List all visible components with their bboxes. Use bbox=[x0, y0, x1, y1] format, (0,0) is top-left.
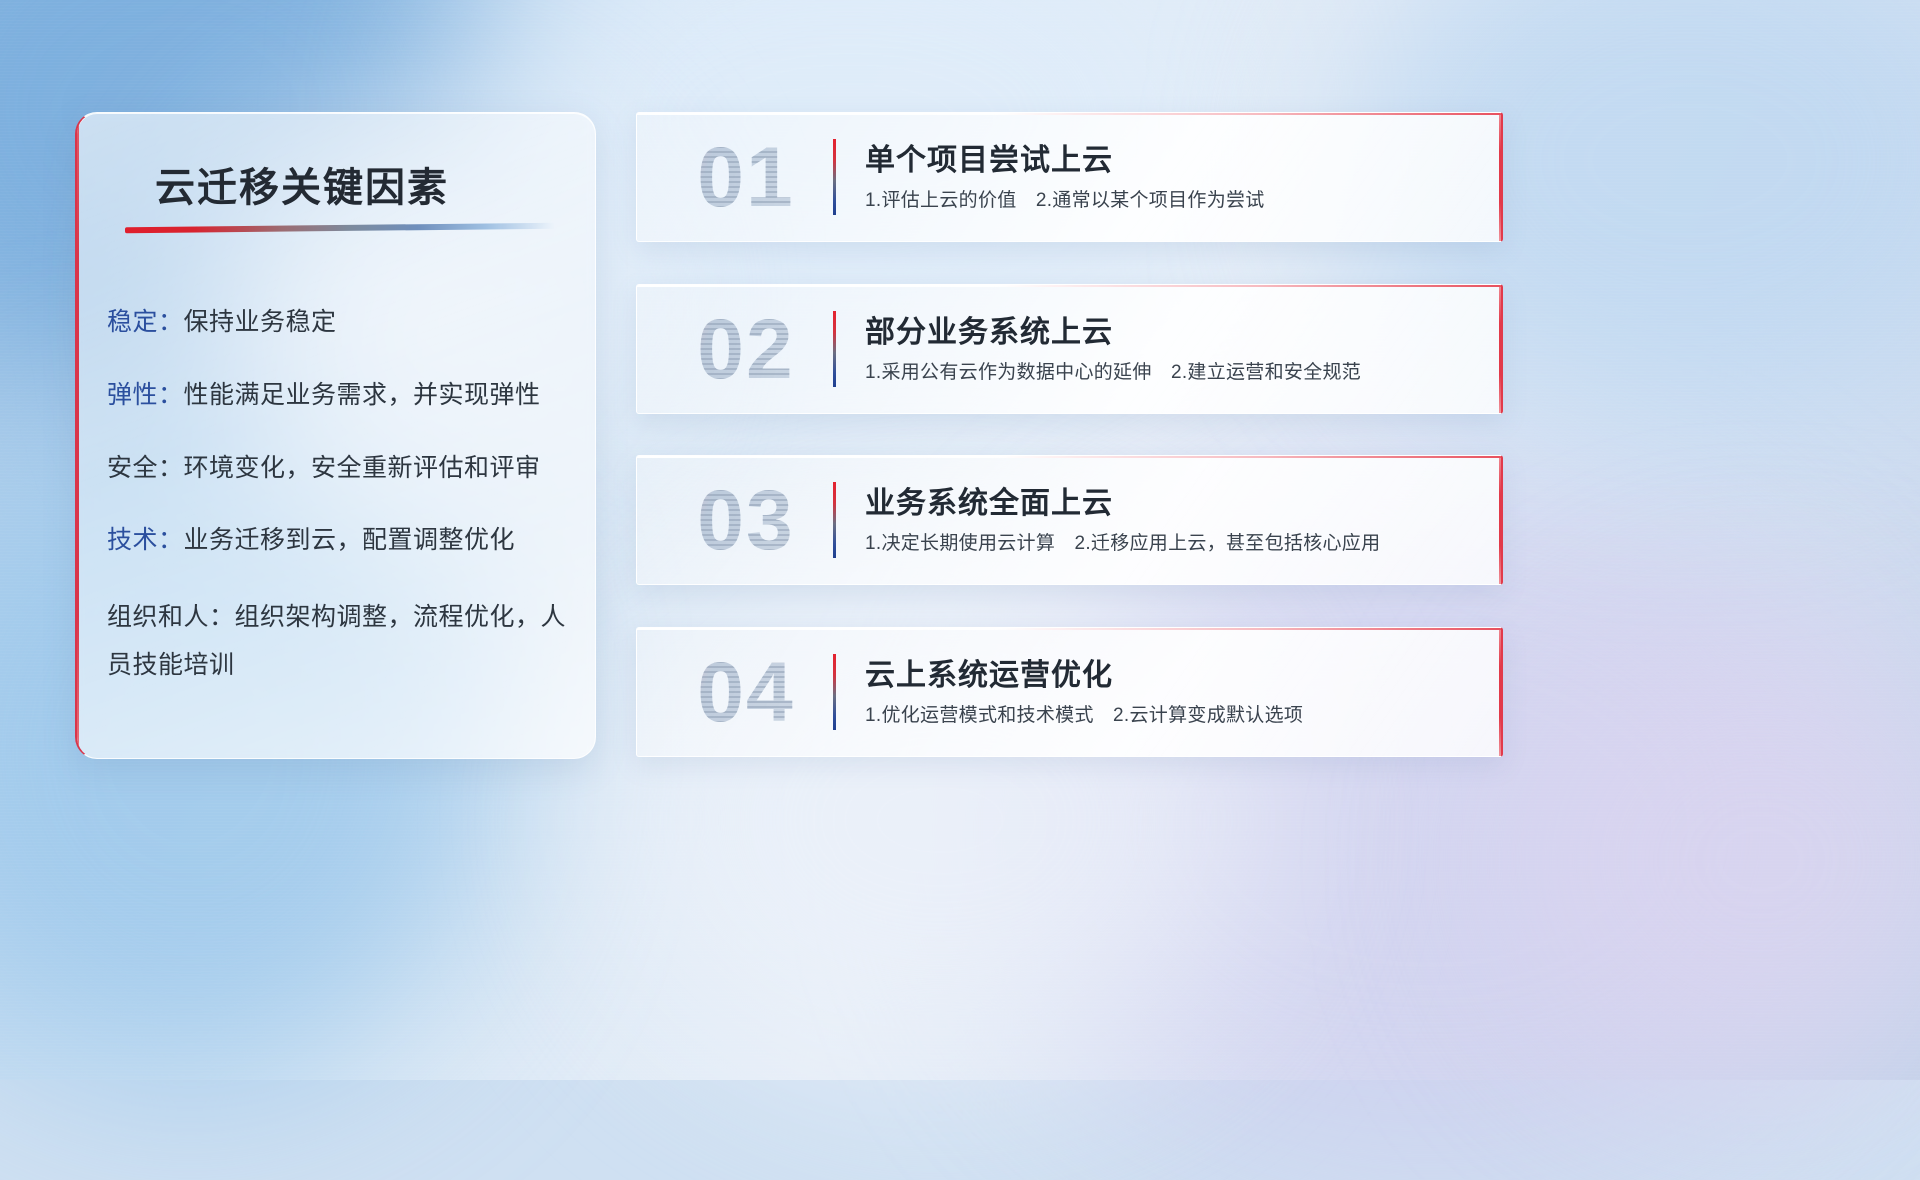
stage-number: 04 bbox=[661, 636, 831, 748]
list-item: 技术：业务迁移到云，配置调整优化 bbox=[107, 521, 571, 560]
stage-description: 1.决定长期使用云计算 2.迁移应用上云，甚至包括核心应用 bbox=[865, 528, 1380, 555]
list-item-label: 组织和人： bbox=[107, 603, 235, 631]
stage-number: 02 bbox=[661, 293, 831, 405]
stage-accent-bar bbox=[833, 654, 836, 730]
stage-accent-bar bbox=[833, 482, 836, 558]
list-item: 弹性：性能满足业务需求，并实现弹性 bbox=[107, 376, 571, 415]
stage-description: 1.评估上云的价值 2.通常以某个项目作为尝试 bbox=[865, 185, 1265, 212]
page-title: 云迁移关键因素 bbox=[155, 155, 555, 213]
list-item-label: 技术： bbox=[107, 526, 184, 554]
key-factors-panel: 云迁移关键因素 稳定：保持业务稳定 弹性：性能满足业务需求，并实现弹性 安全：环… bbox=[75, 112, 596, 759]
stage-title: 云上系统运营优化 bbox=[865, 650, 1113, 694]
title-underline-gradient bbox=[125, 223, 555, 234]
slide-stage: 云迁移关键因素 稳定：保持业务稳定 弹性：性能满足业务需求，并实现弹性 安全：环… bbox=[0, 0, 1920, 1080]
stage-accent-bar bbox=[833, 311, 836, 387]
list-item-label: 安全： bbox=[107, 454, 184, 482]
list-item: 组织和人：组织架构调整，流程优化，人员技能培训 bbox=[107, 594, 571, 689]
stage-card-02[interactable]: 02 部分业务系统上云 1.采用公有云作为数据中心的延伸 2.建立运营和安全规范 bbox=[636, 284, 1503, 414]
list-item: 稳定：保持业务稳定 bbox=[107, 303, 571, 342]
stage-accent-bar bbox=[833, 139, 836, 215]
list-item-text: 环境变化，安全重新评估和评审 bbox=[184, 454, 541, 482]
list-item: 安全：环境变化，安全重新评估和评审 bbox=[107, 449, 571, 488]
list-item-text: 业务迁移到云，配置调整优化 bbox=[184, 526, 516, 554]
stage-title: 部分业务系统上云 bbox=[865, 307, 1113, 351]
stage-description: 1.优化运营模式和技术模式 2.云计算变成默认选项 bbox=[865, 700, 1303, 727]
stage-title: 业务系统全面上云 bbox=[865, 478, 1113, 522]
key-factors-list: 稳定：保持业务稳定 弹性：性能满足业务需求，并实现弹性 安全：环境变化，安全重新… bbox=[107, 303, 571, 723]
stage-description: 1.采用公有云作为数据中心的延伸 2.建立运营和安全规范 bbox=[865, 357, 1361, 384]
stage-card-03[interactable]: 03 业务系统全面上云 1.决定长期使用云计算 2.迁移应用上云，甚至包括核心应… bbox=[636, 455, 1503, 585]
stage-number: 03 bbox=[661, 464, 831, 576]
list-item-label: 弹性： bbox=[107, 381, 184, 409]
list-item-text: 保持业务稳定 bbox=[184, 308, 337, 336]
list-item-label: 稳定： bbox=[107, 308, 184, 336]
stage-title: 单个项目尝试上云 bbox=[865, 135, 1113, 179]
stage-card-04[interactable]: 04 云上系统运营优化 1.优化运营模式和技术模式 2.云计算变成默认选项 bbox=[636, 627, 1503, 757]
list-item-text: 性能满足业务需求，并实现弹性 bbox=[184, 381, 541, 409]
stage-number: 01 bbox=[661, 121, 831, 233]
stage-card-01[interactable]: 01 单个项目尝试上云 1.评估上云的价值 2.通常以某个项目作为尝试 bbox=[636, 112, 1503, 242]
